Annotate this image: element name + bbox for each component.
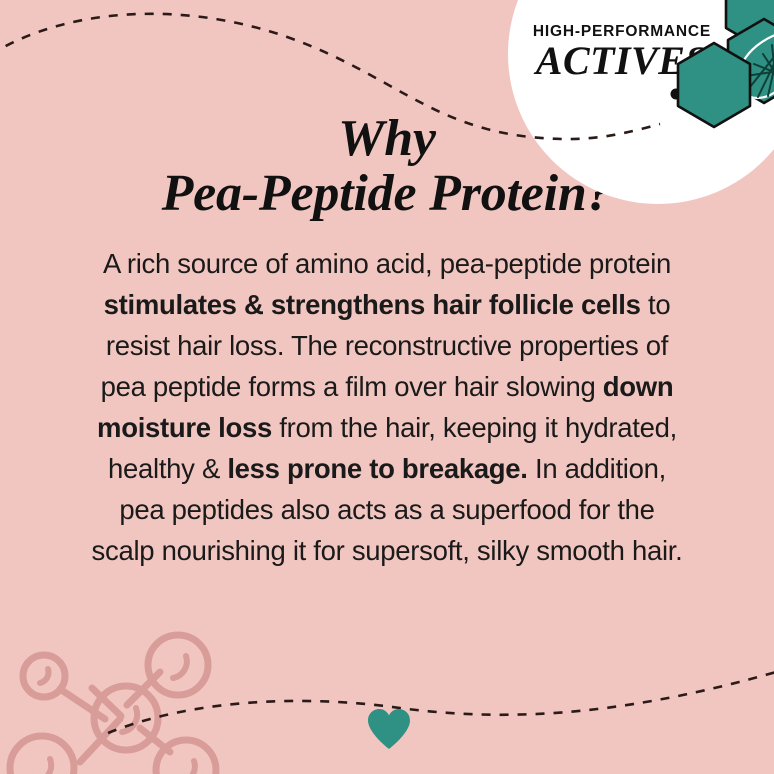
body-segment-5: less prone to breakage. xyxy=(227,453,527,484)
heart-icon xyxy=(367,708,411,750)
body-segment-1: stimulates & strengthens hair follicle c… xyxy=(104,289,641,320)
hexagon-leaf-icon xyxy=(658,0,774,152)
dashed-wave-bottom xyxy=(108,668,774,733)
badge-inner: HIGH-PERFORMANCE ACTIVES xyxy=(508,0,774,204)
high-performance-actives-badge: HIGH-PERFORMANCE ACTIVES xyxy=(508,0,774,204)
promo-poster: HIGH-PERFORMANCE ACTIVES xyxy=(0,0,774,774)
body-segment-0: A rich source of amino acid, pea-peptide… xyxy=(103,248,671,279)
body-paragraph: A rich source of amino acid, pea-peptide… xyxy=(87,243,687,571)
